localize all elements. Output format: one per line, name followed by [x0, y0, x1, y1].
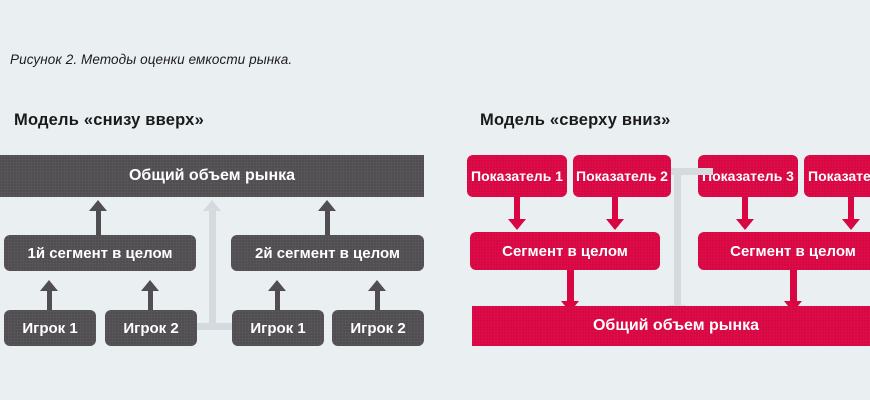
- connector-seg1-to-total: [96, 210, 101, 235]
- right-indicator-box-1: Показатель 1: [467, 155, 567, 197]
- left-player-box-1: Игрок 1: [4, 310, 96, 346]
- connector-player1-to-seg1: [47, 290, 52, 310]
- connector-seg1-to-total-right: [567, 270, 574, 303]
- connector-ind4-to-seg2: [848, 197, 854, 221]
- arrowhead-player3-to-seg2: [268, 280, 286, 291]
- right-segment-box-2: Сегмент в целом: [698, 232, 870, 270]
- left-segment-box-1: 1й сегмент в целом: [4, 235, 196, 271]
- connector-ind1-to-seg1: [514, 197, 520, 221]
- arrowhead-ind3-to-seg2: [736, 219, 754, 230]
- right-segment-box-1: Сегмент в целом: [470, 232, 660, 270]
- left-player-box-3: Игрок 1: [232, 310, 324, 346]
- connector-light-vertical: [209, 210, 216, 330]
- connector-seg2-to-total-right: [790, 270, 797, 303]
- right-connector-light-vertical: [674, 168, 681, 308]
- connector-player4-to-seg2: [375, 290, 380, 310]
- right-indicator-box-2: Показатель 2: [573, 155, 671, 197]
- right-total-market-bar: Общий объем рынка: [472, 306, 870, 346]
- left-total-market-bar: Общий объем рынка: [0, 155, 424, 197]
- arrowhead-seg2-to-total: [318, 200, 336, 211]
- left-model-heading: Модель «снизу вверх»: [14, 111, 204, 130]
- left-player-box-2: Игрок 2: [105, 310, 197, 346]
- arrowhead-player2-to-seg1: [141, 280, 159, 291]
- diagram-canvas: Рисунок 2. Методы оценки емкости рынка. …: [0, 0, 870, 400]
- figure-caption: Рисунок 2. Методы оценки емкости рынка.: [10, 52, 292, 67]
- connector-player3-to-seg2: [275, 290, 280, 310]
- connector-ind2-to-seg1: [612, 197, 618, 221]
- arrowhead-seg1-to-total: [89, 200, 107, 211]
- arrowhead-player1-to-seg1: [40, 280, 58, 291]
- connector-seg2-to-total: [325, 210, 330, 235]
- right-indicator-box-3: Показатель 3: [698, 155, 798, 197]
- connector-ind3-to-seg2: [742, 197, 748, 221]
- right-indicator-box-4: Показатель 4: [804, 155, 870, 197]
- left-segment-box-2: 2й сегмент в целом: [231, 235, 424, 271]
- arrowhead-light-up: [203, 200, 221, 211]
- arrowhead-player4-to-seg2: [368, 280, 386, 291]
- arrowhead-ind2-to-seg1: [606, 219, 624, 230]
- connector-light-horizontal: [196, 323, 234, 330]
- connector-player2-to-seg1: [148, 290, 153, 310]
- left-player-box-4: Игрок 2: [332, 310, 424, 346]
- arrowhead-ind4-to-seg2: [842, 219, 860, 230]
- right-model-heading: Модель «сверху вниз»: [480, 111, 671, 130]
- arrowhead-ind1-to-seg1: [508, 219, 526, 230]
